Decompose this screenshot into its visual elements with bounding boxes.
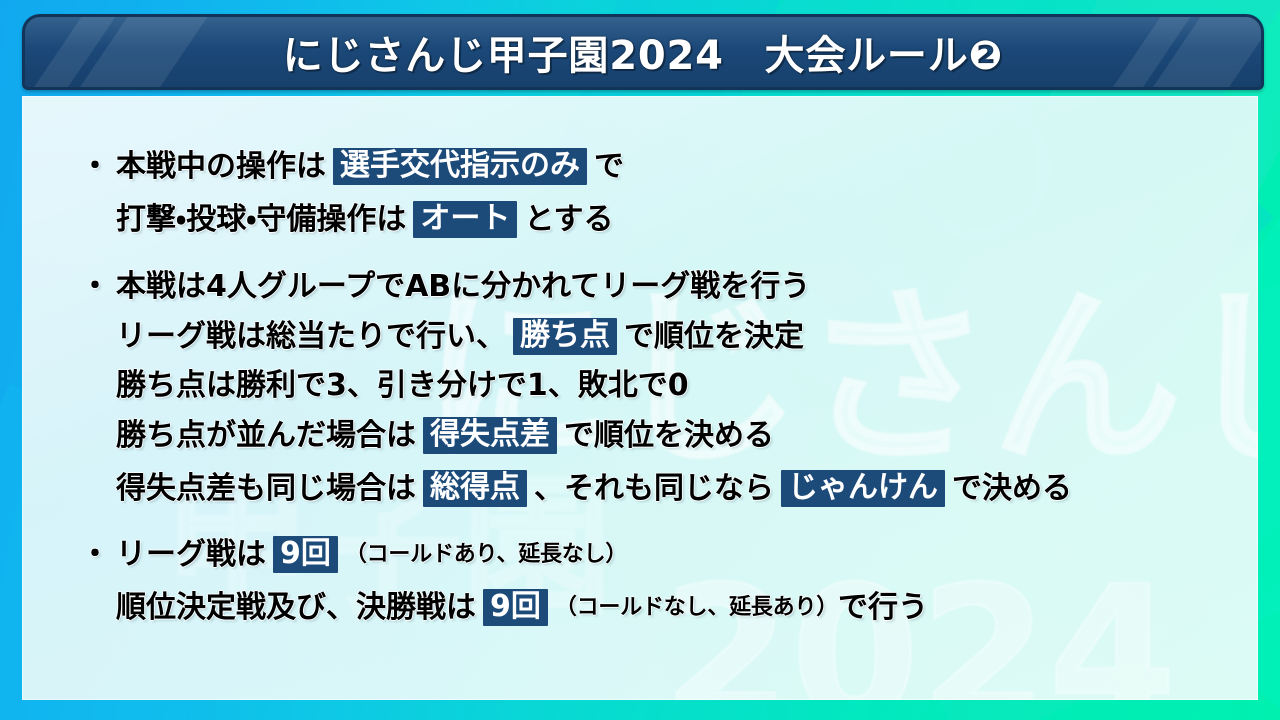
rules-list: ・本戦中の操作は選手交代指示のみで打撃・投球・守備操作はオートとする・本戦は4人… <box>22 96 1258 700</box>
rule-text: 本戦は4人グループでABに分かれてリーグ戦を行う <box>116 272 810 302</box>
rule-line: ・本戦は4人グループでABに分かれてリーグ戦を行う <box>80 272 1072 302</box>
rule-text: で <box>594 152 624 182</box>
rule-line: 得失点差も同じ場合は総得点、それも同じならじゃんけんで決める <box>80 470 1072 507</box>
highlight-term: じゃんけん <box>781 470 945 507</box>
rule-text: 得失点差も同じ場合は <box>116 474 416 504</box>
rule-text: で行う <box>838 593 928 623</box>
rule-text: 打撃・投球・守備操作は <box>116 205 406 235</box>
rule-note: （コールドなし、延長あり） <box>555 597 838 619</box>
rule-text: 勝ち点が並んだ場合は <box>116 421 416 451</box>
highlight-term: 得失点差 <box>423 417 557 454</box>
bullet-icon: ・ <box>80 540 110 570</box>
rule-text: で決める <box>952 474 1072 504</box>
rule-group: ・リーグ戦は9回（コールドあり、延長なし）順位決定戦及び、決勝戦は9回（コールド… <box>80 536 928 626</box>
bullet-icon: ・ <box>80 152 110 182</box>
rule-text: 本戦中の操作は <box>116 152 326 182</box>
rule-text: 勝ち点は勝利で3、引き分けで1、敗北で0 <box>116 371 689 401</box>
rule-text: リーグ戦は総当たりで行い、 <box>116 322 506 352</box>
rule-line: 勝ち点が並んだ場合は得失点差で順位を決める <box>80 417 1072 454</box>
rule-line: ・本戦中の操作は選手交代指示のみで <box>80 148 624 185</box>
highlight-term: 勝ち点 <box>513 318 617 355</box>
rule-group: ・本戦中の操作は選手交代指示のみで打撃・投球・守備操作はオートとする <box>80 148 624 238</box>
slide-root: にじさんじ甲子園2024 大会ルール❷ にじさんじ 2024 甲子園 ・本戦中の… <box>0 0 1280 720</box>
rule-line: 順位決定戦及び、決勝戦は9回（コールドなし、延長あり）で行う <box>80 589 928 626</box>
rule-line: ・リーグ戦は9回（コールドあり、延長なし） <box>80 536 928 573</box>
content-panel: にじさんじ 2024 甲子園 ・本戦中の操作は選手交代指示のみで打撃・投球・守備… <box>22 96 1258 700</box>
highlight-term: 9回 <box>273 536 338 573</box>
highlight-term: 総得点 <box>423 470 527 507</box>
rule-line: 打撃・投球・守備操作はオートとする <box>80 201 624 238</box>
highlight-term: 9回 <box>483 589 548 626</box>
rule-text: リーグ戦は <box>116 540 266 570</box>
rule-text: で順位を決める <box>564 421 774 451</box>
rule-text: で順位を決定 <box>624 322 804 352</box>
highlight-term: 選手交代指示のみ <box>333 148 587 185</box>
rule-text: 、それも同じなら <box>534 474 774 504</box>
title-bar: にじさんじ甲子園2024 大会ルール❷ <box>22 14 1264 90</box>
rule-note: （コールドあり、延長なし） <box>345 544 627 566</box>
rule-line: 勝ち点は勝利で3、引き分けで1、敗北で0 <box>80 371 1072 401</box>
rule-line: リーグ戦は総当たりで行い、勝ち点で順位を決定 <box>80 318 1072 355</box>
page-title: にじさんじ甲子園2024 大会ルール❷ <box>283 23 1003 81</box>
rule-group: ・本戦は4人グループでABに分かれてリーグ戦を行うリーグ戦は総当たりで行い、勝ち… <box>80 272 1072 507</box>
rule-text: とする <box>524 205 613 235</box>
rule-text: 順位決定戦及び、決勝戦は <box>116 593 476 623</box>
highlight-term: オート <box>413 201 517 238</box>
bullet-icon: ・ <box>80 272 110 302</box>
